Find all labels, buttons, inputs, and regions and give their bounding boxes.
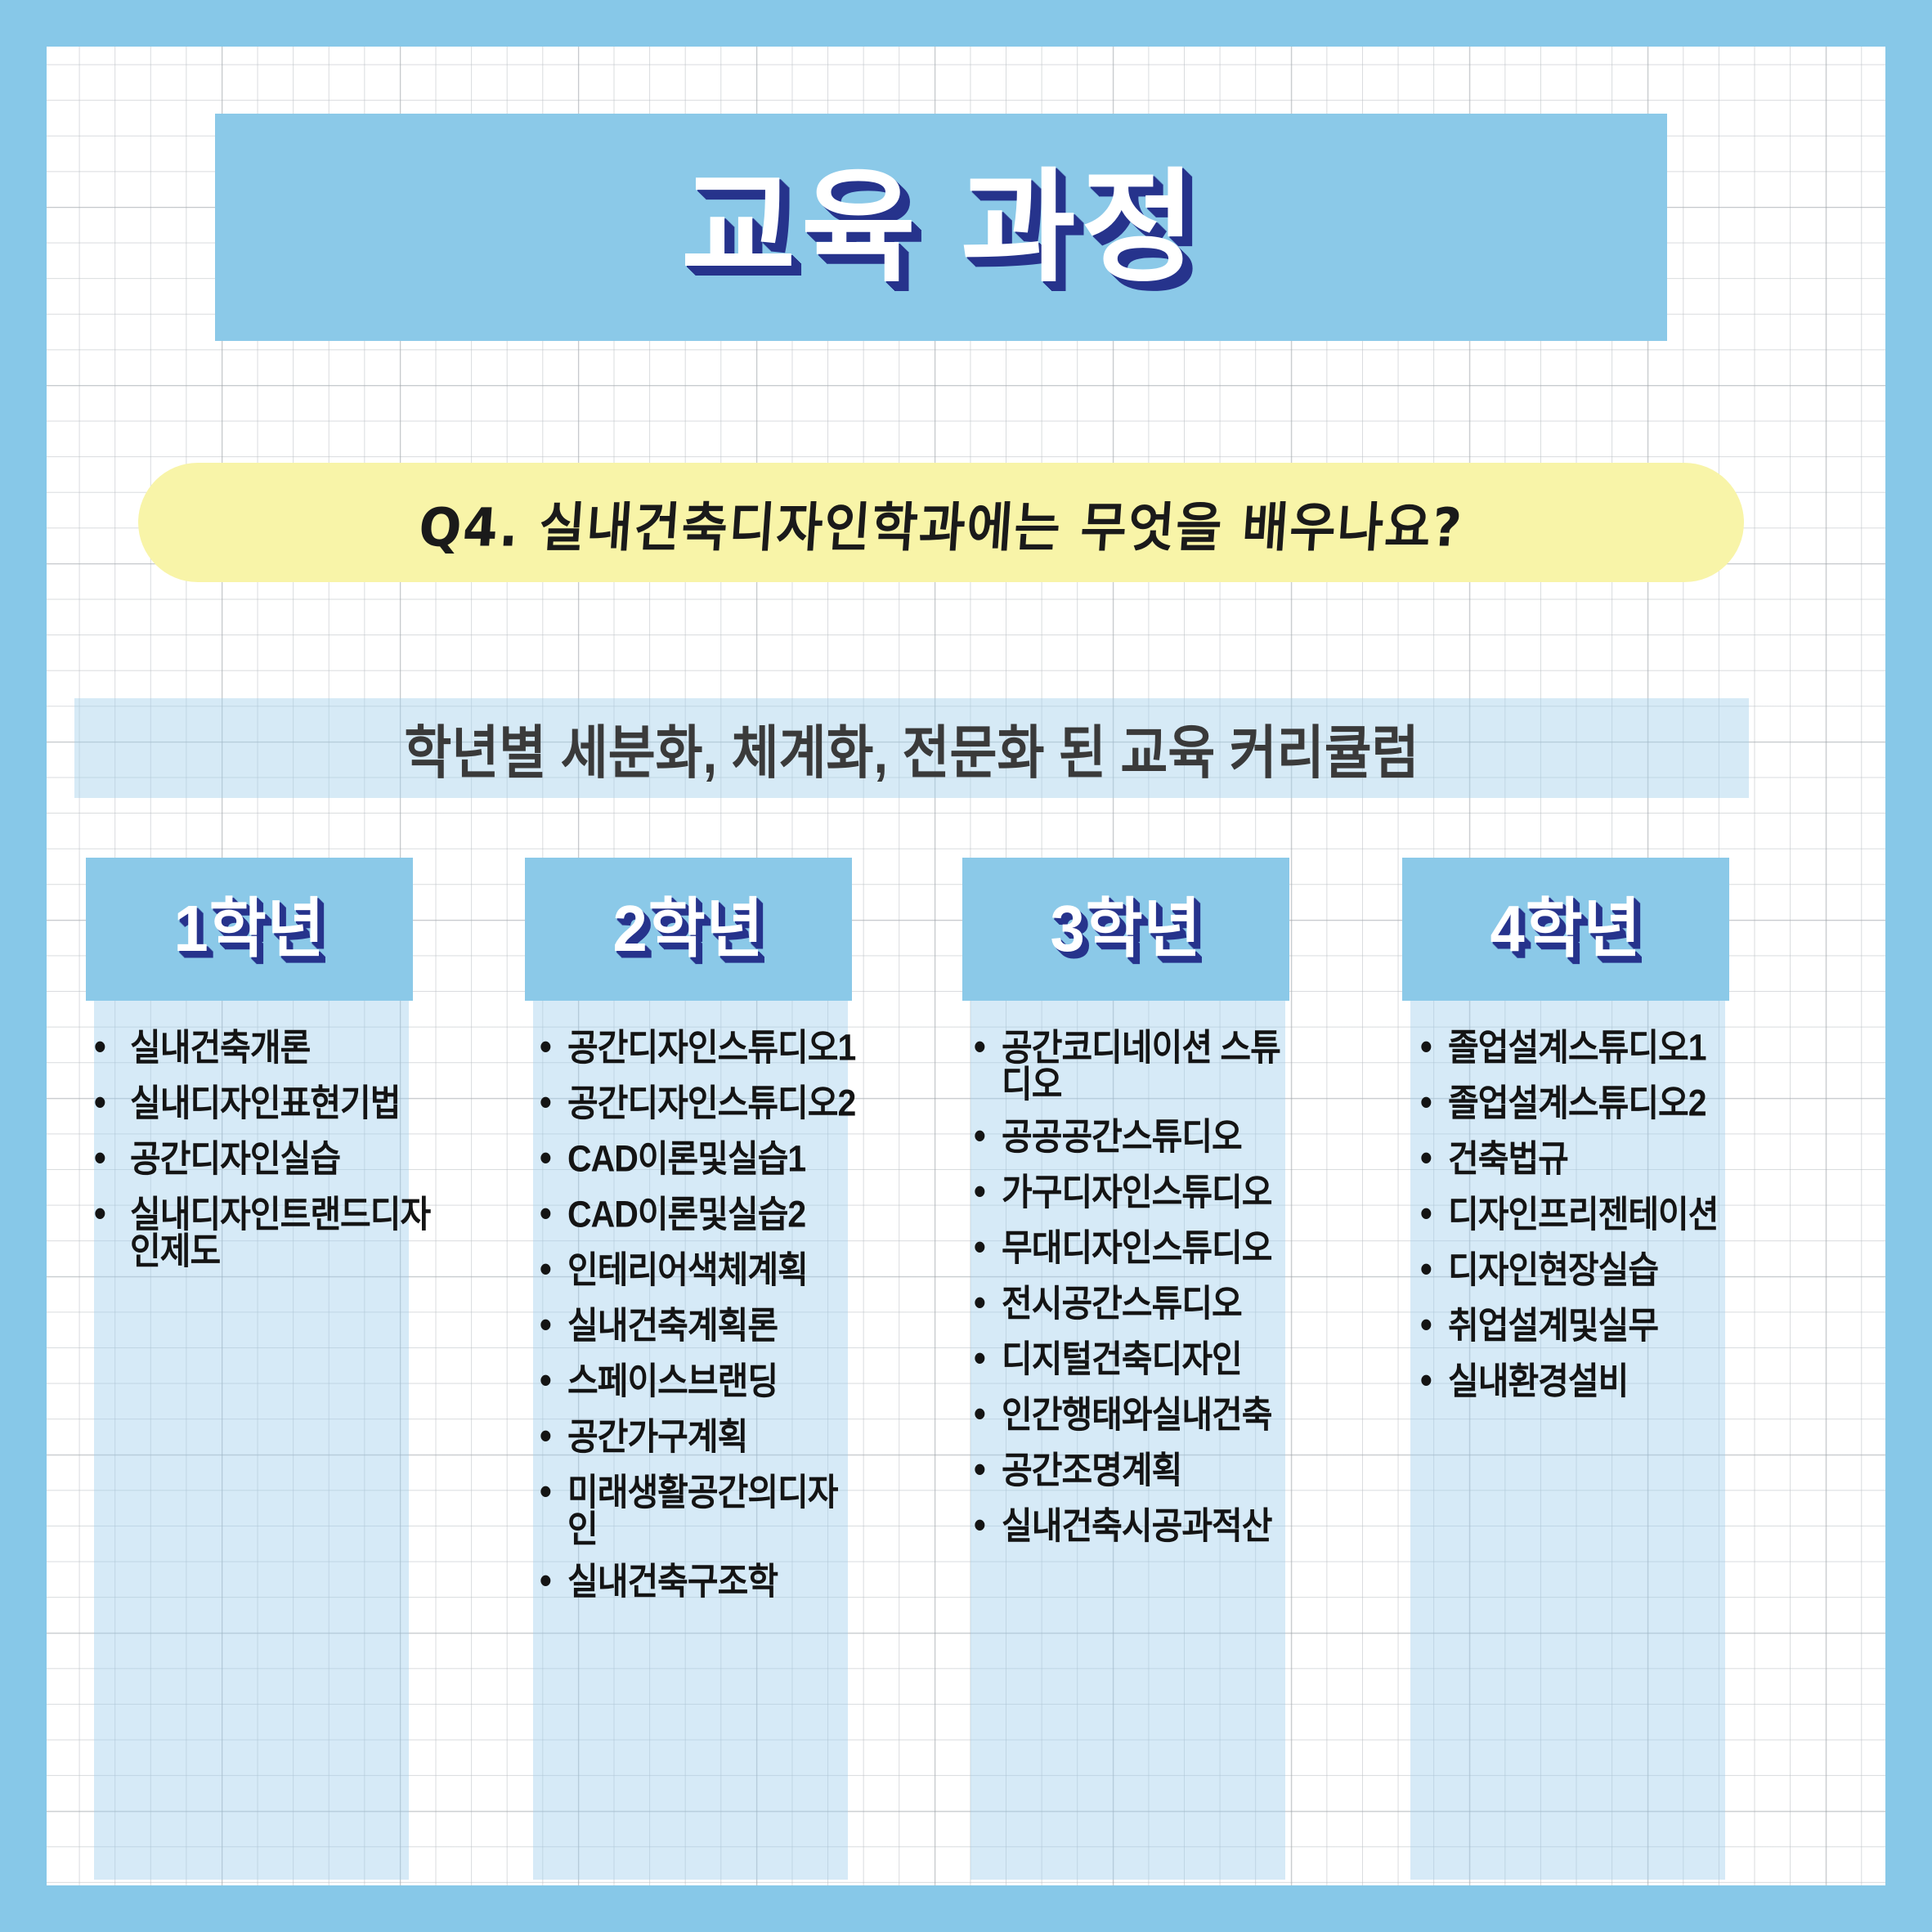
subtitle-text: 학년별 세분화, 체계화, 전문화 된 교육 커리큘럼 bbox=[404, 706, 1419, 790]
course-item: 가구디자인스튜디오 bbox=[974, 1174, 1309, 1211]
grid-paper-background: 교육 과정 Q4. 실내건축디자인학과에는 무엇을 배우나요? 학년별 세분화,… bbox=[47, 47, 1885, 1885]
course-item: 실내건축시공과적산 bbox=[974, 1508, 1309, 1544]
course-item: 공간가구계획 bbox=[540, 1419, 867, 1455]
course-item: 공간디자인스튜디오1 bbox=[540, 1029, 867, 1066]
course-item: 실내디자인표현기법 bbox=[94, 1085, 437, 1122]
course-item: 실내건축계획론 bbox=[540, 1307, 867, 1344]
course-item: 디자인현장실습 bbox=[1420, 1252, 1755, 1289]
year-column-4: 4학년 졸업설계스튜디오1 졸업설계스튜디오2 건축법규 디자인프리젠테이션 디… bbox=[1386, 858, 1746, 1880]
course-item: 스페이스브랜딩 bbox=[540, 1363, 867, 1400]
year-column-3: 3학년 공간코디네이션 스튜디오 공공공간스튜디오 가구디자인스튜디오 무대디자… bbox=[946, 858, 1306, 1880]
year-label-2: 2학년 bbox=[612, 897, 764, 962]
course-item: CAD이론및실습2 bbox=[540, 1196, 867, 1233]
year-label-4: 4학년 bbox=[1490, 897, 1641, 962]
question-banner: Q4. 실내건축디자인학과에는 무엇을 배우나요? bbox=[138, 463, 1744, 582]
course-item: 공공공간스튜디오 bbox=[974, 1118, 1309, 1155]
subtitle-band: 학년별 세분화, 체계화, 전문화 된 교육 커리큘럼 bbox=[74, 698, 1749, 798]
subtitle-emphasis: 세분화, 체계화, 전문화 bbox=[561, 721, 1045, 785]
year-columns: 1학년 실내건축개론 실내디자인표현기법 공간디자인실습 실내디자인트랜드디자인… bbox=[47, 858, 1885, 1880]
year-label-3: 3학년 bbox=[1050, 897, 1201, 962]
year-label-1: 1학년 bbox=[173, 897, 325, 962]
year-header-3: 3학년 bbox=[962, 858, 1289, 1001]
course-item: 미래생활공간의디자인 bbox=[540, 1474, 867, 1548]
course-item: CAD이론및실습1 bbox=[540, 1141, 867, 1177]
course-list-1: 실내건축개론 실내디자인표현기법 공간디자인실습 실내디자인트랜드디자인제도 bbox=[94, 1029, 437, 1285]
course-item: 공간코디네이션 스튜디오 bbox=[974, 1029, 1309, 1103]
course-item: 인간행태와실내건축 bbox=[974, 1396, 1309, 1433]
course-item: 공간디자인실습 bbox=[94, 1141, 437, 1177]
question-text: Q4. 실내건축디자인학과에는 무엇을 배우나요? bbox=[416, 484, 1465, 561]
year-column-2: 2학년 공간디자인스튜디오1 공간디자인스튜디오2 CAD이론및실습1 CAD이… bbox=[509, 858, 868, 1880]
subtitle-prefix: 학년별 bbox=[404, 721, 560, 785]
course-item: 디자인프리젠테이션 bbox=[1420, 1196, 1755, 1233]
course-item: 건축법규 bbox=[1420, 1141, 1755, 1177]
course-item: 실내건축구조학 bbox=[540, 1563, 867, 1600]
course-list-3: 공간코디네이션 스튜디오 공공공간스튜디오 가구디자인스튜디오 무대디자인스튜디… bbox=[974, 1029, 1309, 1563]
course-item: 공간디자인스튜디오2 bbox=[540, 1085, 867, 1122]
year-column-1: 1학년 실내건축개론 실내디자인표현기법 공간디자인실습 실내디자인트랜드디자인… bbox=[69, 858, 429, 1880]
course-item: 전시공간스튜디오 bbox=[974, 1285, 1309, 1322]
infographic-page: 교육 과정 Q4. 실내건축디자인학과에는 무엇을 배우나요? 학년별 세분화,… bbox=[0, 0, 1932, 1932]
course-item: 졸업설계스튜디오2 bbox=[1420, 1085, 1755, 1122]
course-item: 졸업설계스튜디오1 bbox=[1420, 1029, 1755, 1066]
course-list-4: 졸업설계스튜디오1 졸업설계스튜디오2 건축법규 디자인프리젠테이션 디자인현장… bbox=[1420, 1029, 1755, 1419]
course-item: 인테리어색체계획 bbox=[540, 1252, 867, 1289]
title-banner: 교육 과정 bbox=[215, 114, 1667, 341]
course-item: 실내건축개론 bbox=[94, 1029, 437, 1066]
year-header-4: 4학년 bbox=[1402, 858, 1729, 1001]
subtitle-suffix: 된 교육 커리큘럼 bbox=[1044, 721, 1419, 785]
course-item: 공간조명계획 bbox=[974, 1452, 1309, 1489]
course-item: 디지털건축디자인 bbox=[974, 1341, 1309, 1378]
course-item: 무대디자인스튜디오 bbox=[974, 1230, 1309, 1266]
course-item: 실내디자인트랜드디자인제도 bbox=[94, 1196, 437, 1270]
course-list-2: 공간디자인스튜디오1 공간디자인스튜디오2 CAD이론및실습1 CAD이론및실습… bbox=[540, 1029, 867, 1619]
year-header-1: 1학년 bbox=[86, 858, 413, 1001]
course-item: 취업설계및실무 bbox=[1420, 1307, 1755, 1344]
course-item: 실내환경설비 bbox=[1420, 1363, 1755, 1400]
page-title: 교육 과정 bbox=[681, 166, 1201, 289]
year-header-2: 2학년 bbox=[525, 858, 852, 1001]
